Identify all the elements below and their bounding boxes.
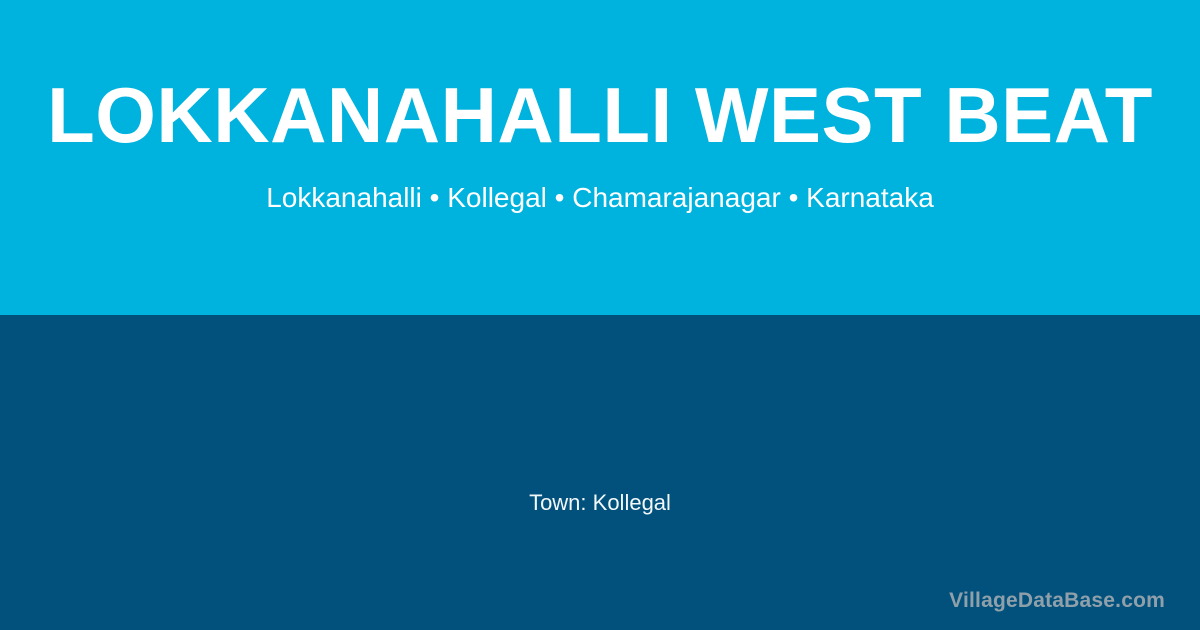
details-panel: Town: Kollegal VillageDataBase.com [0,315,1200,630]
page-title: LOKKANAHALLI WEST BEAT [47,76,1153,154]
detail-town: Town: Kollegal [0,489,1200,517]
hero-banner: LOKKANAHALLI WEST BEAT Lokkanahalli • Ko… [0,0,1200,315]
site-watermark: VillageDataBase.com [949,588,1165,614]
breadcrumb: Lokkanahalli • Kollegal • Chamarajanagar… [266,182,934,214]
og-card: LOKKANAHALLI WEST BEAT Lokkanahalli • Ko… [0,0,1200,630]
